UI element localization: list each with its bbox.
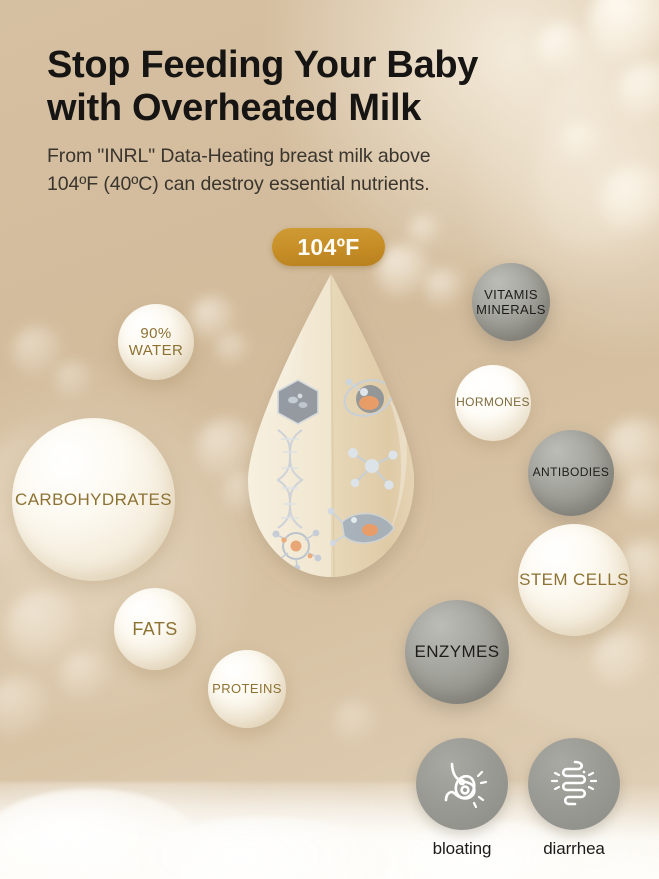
nutrient-bubble-proteins[interactable]: PROTEINS (208, 650, 286, 728)
nutrient-bubble-enzymes[interactable]: ENZYMES (405, 600, 509, 704)
temperature-badge: 104ºF (272, 228, 385, 266)
infographic-poster: Stop Feeding Your Baby with Overheated M… (0, 0, 659, 879)
nutrient-bubble-label-line: 90% (129, 325, 184, 342)
nutrient-bubble-stem-cells[interactable]: STEM CELLS (518, 524, 630, 636)
nutrient-bubble-label: CARBOHYDRATES (15, 490, 172, 510)
bokeh-dot (190, 296, 236, 342)
bokeh-dot (592, 630, 652, 690)
bokeh-dot (424, 268, 464, 308)
nutrient-bubble-label: VITAMISMINERALS (476, 287, 546, 317)
symptom-bloating[interactable]: bloating (414, 738, 510, 859)
nutrient-bubble-carbohydrates[interactable]: CARBOHYDRATES (12, 418, 175, 581)
temperature-badge-label: 104ºF (297, 234, 359, 261)
nutrient-bubble-label-line: PROTEINS (212, 681, 282, 696)
bokeh-dot (6, 590, 80, 664)
page-subtitle: From "INRL" Data-Heating breast milk abo… (47, 143, 627, 198)
nutrient-bubble-label: ENZYMES (415, 642, 500, 662)
virus-icon (276, 600, 324, 648)
nutrient-bubble-label-line: ENZYMES (415, 642, 500, 662)
nutrient-bubble-water[interactable]: 90%WATER (118, 304, 194, 380)
milk-swirl (0, 789, 200, 879)
subtitle-line-1: From "INRL" Data-Heating breast milk abo… (47, 143, 627, 171)
stomach-icon (416, 738, 508, 830)
symptom-diarrhea[interactable]: diarrhea (526, 738, 622, 859)
bokeh-dot (408, 214, 442, 248)
nutrient-bubble-label-line: CARBOHYDRATES (15, 490, 172, 510)
nutrient-bubble-fats[interactable]: FATS (114, 588, 196, 670)
nutrient-bubble-label-line: FATS (132, 619, 177, 640)
nutrient-bubble-label-line: STEM CELLS (519, 570, 629, 590)
page-title: Stop Feeding Your Baby with Overheated M… (47, 44, 627, 130)
nutrient-bubble-label: STEM CELLS (519, 570, 629, 590)
nutrient-bubble-label: ANTIBODIES (533, 466, 610, 480)
bokeh-dot (0, 676, 50, 740)
milk-swirl (140, 817, 390, 879)
bokeh-dot (334, 700, 378, 744)
header: Stop Feeding Your Baby with Overheated M… (47, 44, 627, 198)
nutrient-bubble-label: HORMONES (456, 396, 530, 410)
bokeh-dot (622, 472, 659, 520)
milk-droplet (236, 272, 426, 582)
nutrient-bubble-label-line: HORMONES (456, 396, 530, 410)
symptom-bloating-label: bloating (414, 839, 510, 859)
nutrient-bubble-label-line: MINERALS (476, 302, 546, 317)
nutrient-bubble-hormones[interactable]: HORMONES (455, 365, 531, 441)
bokeh-dot (54, 360, 94, 400)
title-line-2: with Overheated Milk (47, 87, 627, 130)
intestines-icon (528, 738, 620, 830)
nutrient-bubble-label-line: ANTIBODIES (533, 466, 610, 480)
title-line-1: Stop Feeding Your Baby (47, 44, 627, 87)
nutrient-bubble-label: PROTEINS (212, 681, 282, 696)
bokeh-dot (12, 326, 64, 378)
nutrient-bubble-label-line: WATER (129, 342, 184, 359)
nucleus-cell-icon (338, 585, 402, 631)
symptom-diarrhea-label: diarrhea (526, 839, 622, 859)
subtitle-line-2: 104ºF (40ºC) can destroy essential nutri… (47, 171, 627, 199)
nutrient-bubble-label: 90%WATER (129, 325, 184, 360)
bokeh-dot (60, 650, 110, 700)
nutrient-bubble-label-line: VITAMIS (476, 287, 546, 302)
nutrient-bubble-label: FATS (132, 619, 177, 640)
nutrient-bubble-antibodies[interactable]: ANTIBODIES (528, 430, 614, 516)
nutrient-bubble-vitamis-minerals[interactable]: VITAMISMINERALS (472, 263, 550, 341)
